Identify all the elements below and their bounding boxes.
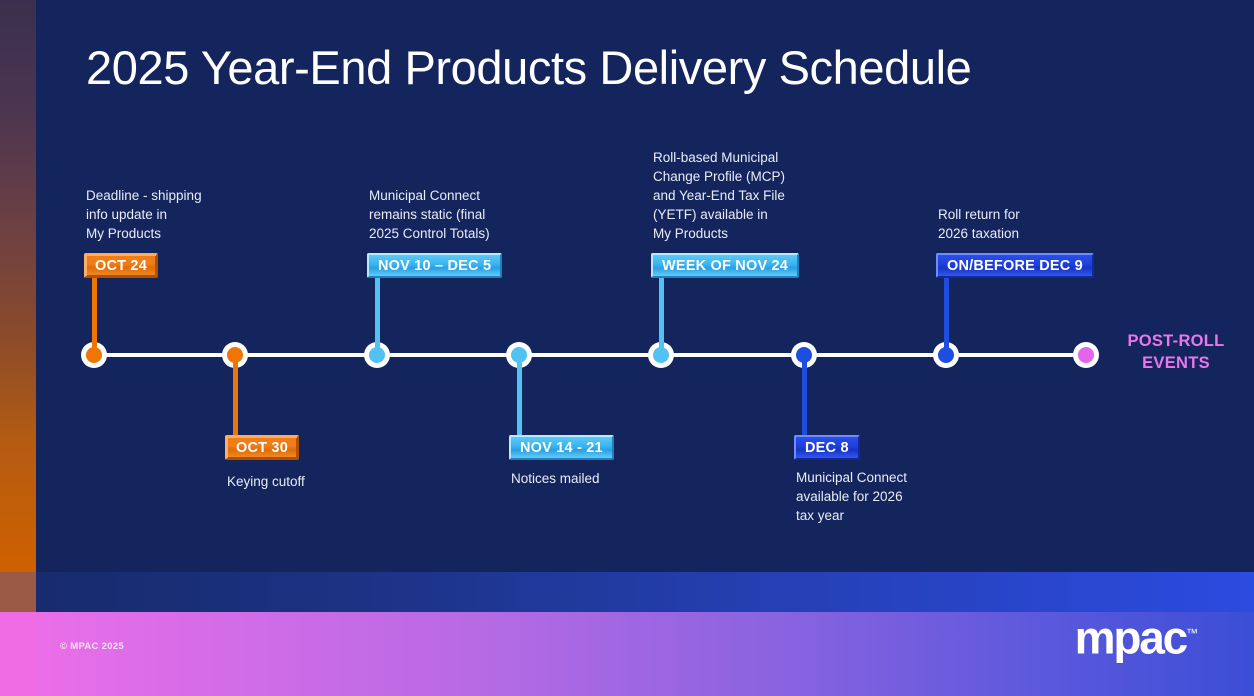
timeline-node-core — [227, 347, 243, 363]
left-edge-accent-strip — [0, 0, 36, 572]
mpac-logo-wordmark: mpac — [1075, 611, 1186, 663]
timeline-connector-week-of-nov-24 — [659, 278, 664, 348]
slide-canvas: 2025 Year-End Products Delivery Schedule… — [0, 0, 1254, 696]
timeline-node-core — [796, 347, 812, 363]
footer-accent-band — [0, 572, 1254, 612]
milestone-description-nov-14-21: Notices mailed — [511, 469, 600, 488]
milestone-description-on-before-dec-9: Roll return for 2026 taxation — [938, 205, 1020, 243]
timeline-node-core — [86, 347, 102, 363]
date-badge-week-of-nov-24: WEEK OF NOV 24 — [651, 253, 799, 278]
date-badge-oct-24: OCT 24 — [84, 253, 158, 278]
date-badge-nov-10-dec-5: NOV 10 – DEC 5 — [367, 253, 502, 278]
milestone-description-dec-8: Municipal Connect available for 2026 tax… — [796, 468, 907, 525]
left-edge-accent-strip-mid — [0, 572, 36, 612]
milestone-description-week-of-nov-24: Roll-based Municipal Change Profile (MCP… — [653, 148, 785, 243]
milestone-description-oct-30: Keying cutoff — [227, 472, 305, 491]
post-roll-events-label: POST-ROLL EVENTS — [1106, 330, 1246, 374]
milestone-description-oct-24: Deadline - shipping info update in My Pr… — [86, 186, 202, 243]
footer-gradient-band — [0, 612, 1254, 696]
date-badge-nov-14-21: NOV 14 - 21 — [509, 435, 614, 460]
timeline-node-core — [653, 347, 669, 363]
timeline-connector-oct-24 — [92, 278, 97, 348]
timeline-connector-nov-10-dec-5 — [375, 278, 380, 348]
page-title: 2025 Year-End Products Delivery Schedule — [86, 40, 971, 95]
timeline-node-core — [511, 347, 527, 363]
milestone-description-nov-10-dec-5: Municipal Connect remains static (final … — [369, 186, 490, 243]
copyright-text: © MPAC 2025 — [60, 641, 124, 652]
timeline-node-core — [369, 347, 385, 363]
timeline-connector-on-before-dec-9 — [944, 278, 949, 348]
timeline-connector-dec-8 — [802, 362, 807, 435]
timeline-node-core — [938, 347, 954, 363]
mpac-logo: mpac™ — [1075, 610, 1198, 660]
date-badge-dec-8: DEC 8 — [794, 435, 860, 460]
trademark-symbol: ™ — [1186, 626, 1198, 640]
date-badge-oct-30: OCT 30 — [225, 435, 299, 460]
left-edge-accent-strip-footer — [0, 612, 36, 696]
timeline-node-post-roll — [1073, 342, 1099, 368]
timeline-connector-oct-30 — [233, 362, 238, 435]
date-badge-on-before-dec-9: ON/BEFORE DEC 9 — [936, 253, 1094, 278]
timeline-node-core — [1078, 347, 1094, 363]
timeline-connector-nov-14-21 — [517, 362, 522, 435]
